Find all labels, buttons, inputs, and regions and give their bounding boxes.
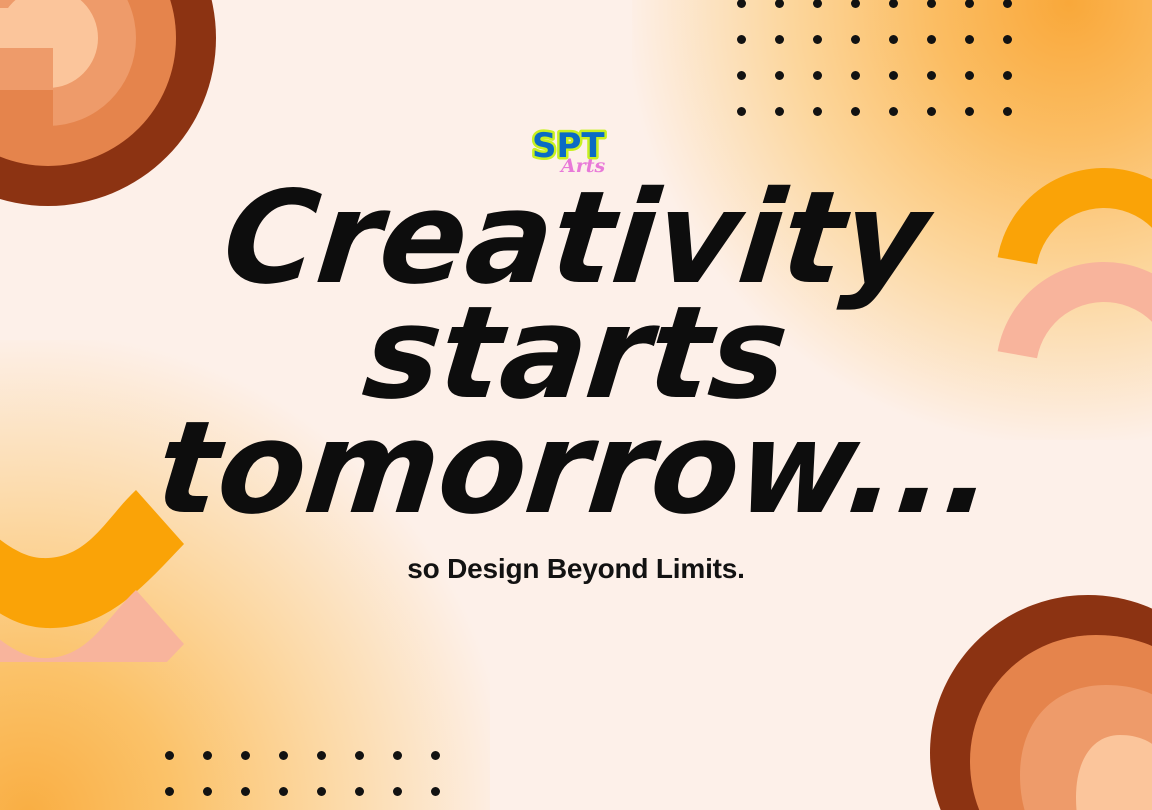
poster-canvas: SPT SPT Arts Creativity starts tomorrow.… (0, 0, 1152, 810)
subheadline: so Design Beyond Limits. (407, 553, 744, 585)
headline-line-3: tomorrow... (152, 408, 1000, 531)
poster-content: SPT SPT Arts Creativity starts tomorrow.… (0, 0, 1152, 810)
page-title: Creativity starts tomorrow... (158, 178, 993, 531)
